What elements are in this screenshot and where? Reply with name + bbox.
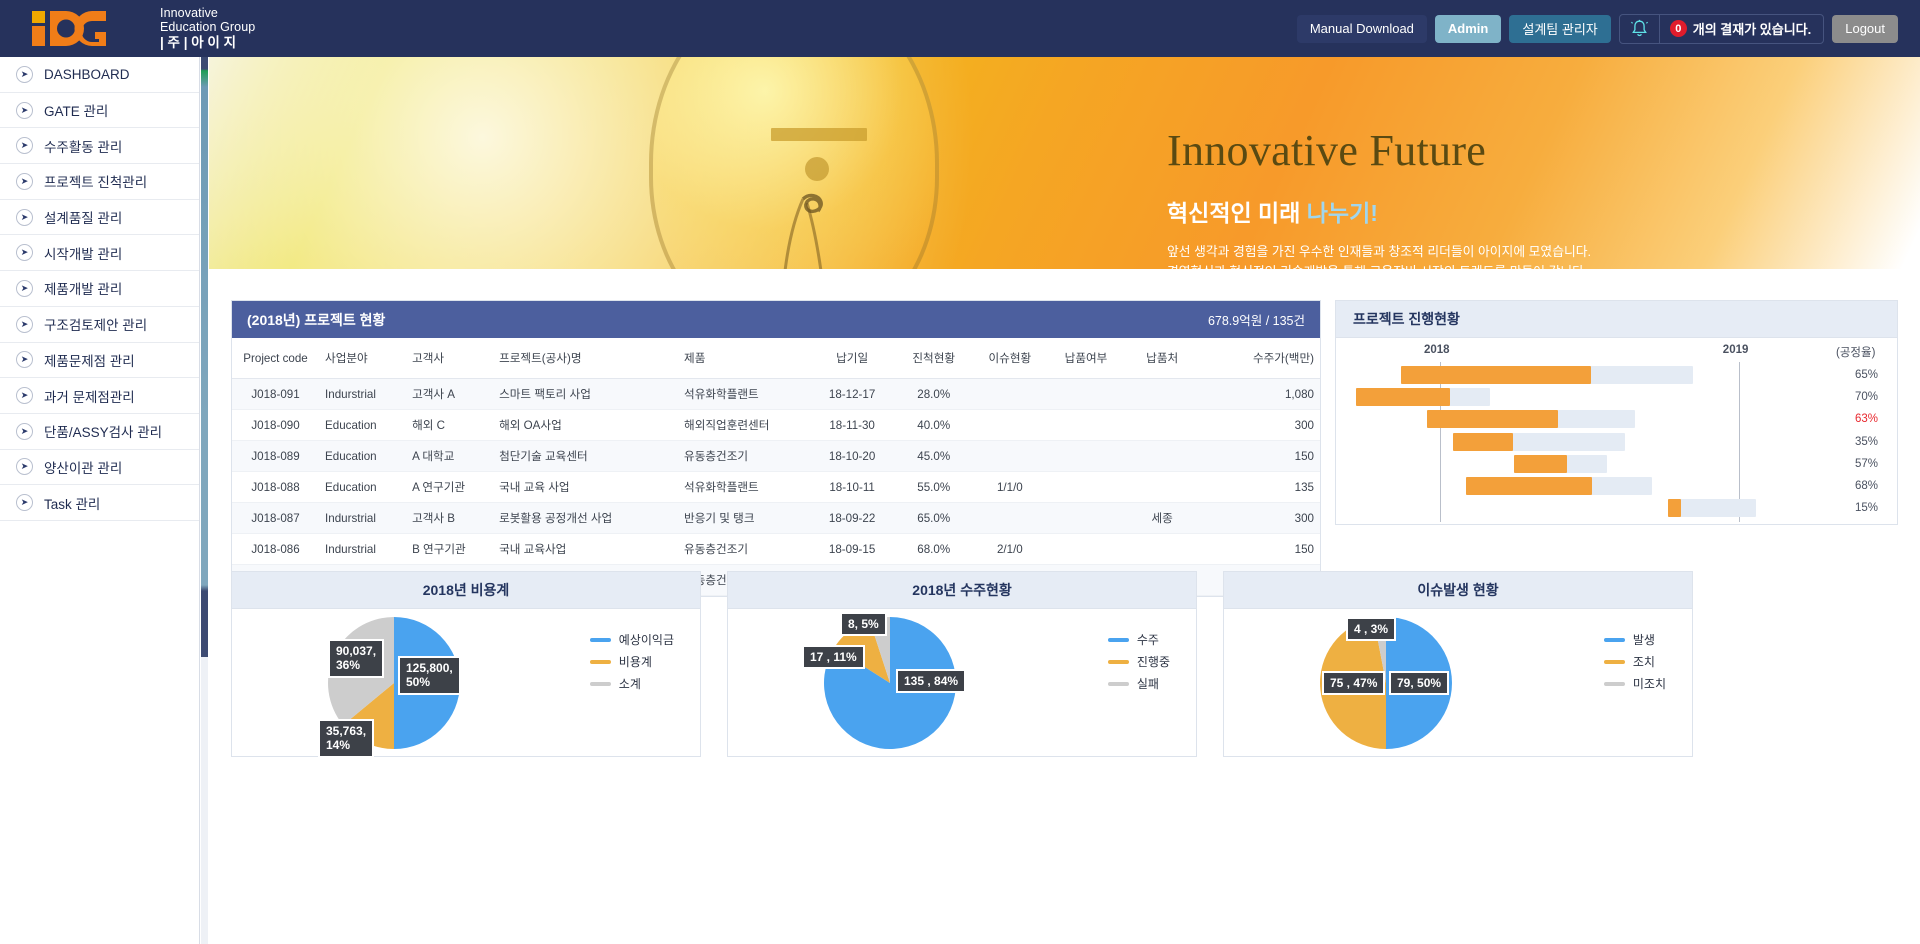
table-cell-dest: [1124, 441, 1200, 472]
table-cell-issue: 2/1/0: [972, 534, 1048, 565]
table-cell-price: 150: [1200, 441, 1320, 472]
table-cell-dest: [1124, 410, 1200, 441]
team-manager-button[interactable]: 설계팀 관리자: [1509, 15, 1610, 43]
table-column-header: 진척현황: [896, 338, 972, 379]
chevron-right-icon: ➤: [16, 494, 33, 511]
table-cell-field: Education: [319, 410, 406, 441]
table-cell-dest: [1124, 534, 1200, 565]
table-cell-name: 첨단기술 교육센터: [493, 441, 678, 472]
chevron-right-icon: ➤: [16, 66, 33, 83]
table-column-header: 고객사: [406, 338, 493, 379]
pie-legend: 수주진행중실패: [1108, 631, 1170, 697]
legend-color-swatch: [1108, 638, 1129, 642]
table-cell-client: A 연구기관: [406, 472, 493, 503]
pie-legend: 예상이익금비용계소계: [590, 631, 674, 697]
table-cell-field: Education: [319, 441, 406, 472]
legend-label: 예상이익금: [619, 631, 674, 648]
chevron-right-icon: ➤: [16, 351, 33, 368]
pie-data-label: 90,037, 36%: [328, 639, 384, 678]
legend-color-swatch: [1108, 682, 1129, 686]
pie-data-label: 4 , 3%: [1346, 617, 1396, 641]
table-cell-product: 해외직업훈련센터: [678, 410, 809, 441]
chevron-right-icon: ➤: [16, 280, 33, 297]
table-cell-name: 해외 OA사업: [493, 410, 678, 441]
table-column-header: 사업분야: [319, 338, 406, 379]
sidebar-item-label: 설계품질 관리: [44, 207, 122, 227]
orders-pie-panel: 2018년 수주현황 수주진행중실패135 , 84%17 , 11%8, 5%: [727, 571, 1197, 757]
sidebar-item-1[interactable]: ➤GATE 관리: [0, 93, 199, 129]
pie-data-label: 75 , 47%: [1322, 671, 1385, 695]
sidebar-item-5[interactable]: ➤시작개발 관리: [0, 235, 199, 271]
table-cell-price: 135: [1200, 472, 1320, 503]
gantt-bar-fill: [1514, 455, 1567, 473]
table-cell-issue: [972, 379, 1048, 410]
pie-data-label: 8, 5%: [840, 612, 887, 636]
gantt-chart: 20182019(공정율)65%70%63%35%57%68%15%: [1336, 338, 1897, 524]
main-content: (2018년) 프로젝트 현황 678.9억원 / 135건 Project c…: [209, 269, 1920, 944]
table-row[interactable]: J018-091Indurstrial고객사 A스마트 팩토리 사업석유화학플랜…: [232, 379, 1320, 410]
gantt-bar-fill: [1453, 433, 1513, 451]
issues-pie-chart: 발생조치미조치79, 50%75 , 47%4 , 3%: [1224, 609, 1692, 757]
logo-line-3: | 주 | 아 이 지: [160, 35, 255, 50]
lightbulb-filament-icon: [769, 179, 859, 269]
legend-label: 미조치: [1633, 675, 1666, 692]
banner-subtitle-main: 혁신적인 미래: [1167, 200, 1307, 226]
project-status-title: (2018년) 프로젝트 현황: [247, 310, 385, 330]
gantt-value-header: (공정율): [1836, 344, 1875, 360]
gantt-progress-label: 70%: [1836, 391, 1878, 403]
sidebar-scrollbar[interactable]: [201, 57, 208, 944]
orders-pie-title: 2018년 수주현황: [728, 572, 1196, 609]
admin-button[interactable]: Admin: [1435, 15, 1501, 43]
lightbulb-dot-icon: [805, 157, 829, 181]
table-row[interactable]: J018-090Education해외 C해외 OA사업해외직업훈련센터18-1…: [232, 410, 1320, 441]
table-row[interactable]: J018-086IndurstrialB 연구기관국내 교육사업유동층건조기18…: [232, 534, 1320, 565]
sidebar-item-label: 구조검토제안 관리: [44, 314, 147, 334]
table-cell-due: 18-10-20: [809, 441, 896, 472]
table-cell-client: A 대학교: [406, 441, 493, 472]
table-cell-due: 18-10-11: [809, 472, 896, 503]
legend-item: 예상이익금: [590, 631, 674, 648]
gantt-gridline-2018: [1440, 362, 1441, 522]
legend-label: 진행중: [1137, 653, 1170, 670]
gantt-progress-label: 65%: [1836, 369, 1878, 381]
legend-item: 조치: [1604, 653, 1666, 670]
sidebar-item-4[interactable]: ➤설계품질 관리: [0, 200, 199, 236]
legend-item: 소계: [590, 675, 674, 692]
pie-data-label: 35,763, 14%: [318, 719, 374, 758]
table-cell-code: J018-090: [232, 410, 319, 441]
table-cell-progress: 40.0%: [896, 410, 972, 441]
table-cell-code: J018-091: [232, 379, 319, 410]
table-cell-product: 유동층건조기: [678, 534, 809, 565]
table-cell-issue: [972, 441, 1048, 472]
gantt-gridline-2019: [1739, 362, 1740, 522]
sidebar-item-0[interactable]: ➤DASHBOARD: [0, 57, 199, 93]
chevron-right-icon: ➤: [16, 244, 33, 261]
table-cell-product: 유동층건조기: [678, 441, 809, 472]
table-column-header: 프로젝트(공사)명: [493, 338, 678, 379]
gantt-bar-fill: [1668, 499, 1681, 517]
table-cell-issue: [972, 410, 1048, 441]
manual-download-button[interactable]: Manual Download: [1297, 15, 1427, 43]
notification-count-badge: 0: [1670, 20, 1687, 37]
table-cell-field: Education: [319, 472, 406, 503]
idg-logo-icon: [30, 9, 150, 47]
gantt-bar-fill: [1427, 410, 1558, 428]
legend-label: 조치: [1633, 653, 1655, 670]
table-row[interactable]: J018-087Indurstrial고객사 B로봇활용 공정개선 사업반응기 …: [232, 503, 1320, 534]
header-actions: Manual Download Admin 설계팀 관리자 0 개의 결재가 있…: [1297, 14, 1898, 44]
logout-button[interactable]: Logout: [1832, 15, 1898, 43]
lightbulb-base-icon: [771, 128, 867, 141]
table-cell-dest: [1124, 379, 1200, 410]
legend-color-swatch: [1604, 682, 1625, 686]
gantt-bar-fill: [1466, 477, 1592, 495]
legend-color-swatch: [1604, 638, 1625, 642]
legend-item: 발생: [1604, 631, 1666, 648]
table-cell-code: J018-087: [232, 503, 319, 534]
banner-desc-line-1: 앞선 생각과 경험을 가진 우수한 인재들과 창조적 리더들이 아이지에 모였습…: [1167, 242, 1591, 262]
legend-item: 진행중: [1108, 653, 1170, 670]
pie-legend: 발생조치미조치: [1604, 631, 1666, 697]
table-cell-delivered: [1048, 410, 1124, 441]
pie-data-label: 125,800, 50%: [398, 656, 461, 695]
chevron-right-icon: ➤: [16, 209, 33, 226]
table-body: J018-091Indurstrial고객사 A스마트 팩토리 사업석유화학플랜…: [232, 379, 1320, 596]
legend-color-swatch: [590, 638, 611, 642]
chevron-right-icon: ➤: [16, 102, 33, 119]
sidebar-item-3[interactable]: ➤프로젝트 진척관리: [0, 164, 199, 200]
table-column-header: Project code: [232, 338, 319, 379]
table-header-row: Project code사업분야고객사프로젝트(공사)명제품납기일진척현황이슈현…: [232, 338, 1320, 379]
table-column-header: 제품: [678, 338, 809, 379]
table-cell-code: J018-089: [232, 441, 319, 472]
legend-label: 수주: [1137, 631, 1159, 648]
table-column-header: 수주가(백만): [1200, 338, 1320, 379]
table-cell-progress: 45.0%: [896, 441, 972, 472]
banner-subtitle-highlight: 나누기!: [1307, 200, 1378, 226]
table-cell-name: 로봇활용 공정개선 사업: [493, 503, 678, 534]
table-cell-name: 스마트 팩토리 사업: [493, 379, 678, 410]
pie-data-label: 135 , 84%: [896, 669, 966, 693]
table-cell-due: 18-12-17: [809, 379, 896, 410]
gantt-progress-label: 68%: [1836, 480, 1878, 492]
chevron-right-icon: ➤: [16, 423, 33, 440]
table-cell-name: 국내 교육 사업: [493, 472, 678, 503]
legend-label: 비용계: [619, 653, 652, 670]
table-column-header: 이슈현황: [972, 338, 1048, 379]
table-cell-field: Indurstrial: [319, 534, 406, 565]
sidebar-item-label: 과거 문제점관리: [44, 386, 135, 406]
sidebar-item-label: 수주활동 관리: [44, 136, 122, 156]
table-cell-dest: 세종: [1124, 503, 1200, 534]
table-cell-issue: 1/1/0: [972, 472, 1048, 503]
project-status-panel: (2018년) 프로젝트 현황 678.9억원 / 135건 Project c…: [231, 300, 1321, 597]
table-cell-price: 300: [1200, 503, 1320, 534]
sidebar-item-12[interactable]: ➤Task 관리: [0, 485, 199, 521]
table-cell-name: 국내 교육사업: [493, 534, 678, 565]
issues-pie-panel: 이슈발생 현황 발생조치미조치79, 50%75 , 47%4 , 3%: [1223, 571, 1693, 757]
table-cell-delivered: [1048, 379, 1124, 410]
pie-data-label: 17 , 11%: [802, 645, 865, 669]
notification-message: 개의 결재가 있습니다.: [1693, 19, 1811, 38]
table-cell-price: 1,080: [1200, 379, 1320, 410]
table-row[interactable]: J018-088EducationA 연구기관국내 교육 사업석유화학플랜트18…: [232, 472, 1320, 503]
legend-label: 실패: [1137, 675, 1159, 692]
gantt-title: 프로젝트 진행현황: [1336, 301, 1897, 338]
sidebar-item-9[interactable]: ➤과거 문제점관리: [0, 378, 199, 414]
table-cell-progress: 65.0%: [896, 503, 972, 534]
legend-item: 실패: [1108, 675, 1170, 692]
table-cell-product: 반응기 및 탱크: [678, 503, 809, 534]
table-cell-client: B 연구기관: [406, 534, 493, 565]
sidebar-item-label: 프로젝트 진척관리: [44, 171, 147, 191]
logo-line-2: Education Group: [160, 20, 255, 34]
gantt-progress-label: 35%: [1836, 436, 1878, 448]
gantt-bar-track: [1668, 499, 1756, 517]
sidebar-item-2[interactable]: ➤수주활동 관리: [0, 128, 199, 164]
sidebar-item-8[interactable]: ➤제품문제점 관리: [0, 343, 199, 379]
table-cell-field: Indurstrial: [319, 379, 406, 410]
sidebar-item-10[interactable]: ➤단품/ASSY검사 관리: [0, 414, 199, 450]
table-cell-due: 18-11-30: [809, 410, 896, 441]
cost-pie-panel: 2018년 비용계 예상이익금비용계소계125,800, 50%35,763, …: [231, 571, 701, 757]
legend-color-swatch: [590, 660, 611, 664]
table-column-header: 납품여부: [1048, 338, 1124, 379]
sidebar-nav: ➤DASHBOARD➤GATE 관리➤수주활동 관리➤프로젝트 진척관리➤설계품…: [0, 57, 200, 944]
gantt-bar-fill: [1401, 366, 1591, 384]
table-cell-progress: 55.0%: [896, 472, 972, 503]
legend-label: 소계: [619, 675, 641, 692]
sidebar-item-label: 양산이관 관리: [44, 457, 122, 477]
chevron-right-icon: ➤: [16, 137, 33, 154]
gantt-progress-label: 57%: [1836, 458, 1878, 470]
sidebar-item-label: 단품/ASSY검사 관리: [44, 421, 162, 441]
banner-title: Innovative Future: [1167, 125, 1591, 176]
notification-text-wrap: 0 개의 결재가 있습니다.: [1660, 19, 1823, 38]
table-cell-product: 석유화학플랜트: [678, 379, 809, 410]
table-cell-client: 해외 C: [406, 410, 493, 441]
legend-color-swatch: [590, 682, 611, 686]
table-cell-due: 18-09-22: [809, 503, 896, 534]
sidebar-item-6[interactable]: ➤제품개발 관리: [0, 271, 199, 307]
legend-label: 발생: [1633, 631, 1655, 648]
table-cell-delivered: [1048, 441, 1124, 472]
sidebar-item-label: Task 관리: [44, 493, 100, 513]
project-status-summary: 678.9억원 / 135건: [1208, 310, 1305, 329]
table-cell-field: Indurstrial: [319, 503, 406, 534]
sidebar-item-11[interactable]: ➤양산이관 관리: [0, 450, 199, 486]
banner-subtitle: 혁신적인 미래 나누기!: [1167, 194, 1591, 228]
logo-line-1: Innovative: [160, 6, 255, 20]
orders-pie-chart: 수주진행중실패135 , 84%17 , 11%8, 5%: [728, 609, 1196, 757]
table-cell-product: 석유화학플랜트: [678, 472, 809, 503]
legend-item: 미조치: [1604, 675, 1666, 692]
legend-item: 비용계: [590, 653, 674, 670]
cost-pie-title: 2018년 비용계: [232, 572, 700, 609]
banner-description: 앞선 생각과 경험을 가진 우수한 인재들과 창조적 리더들이 아이지에 모였습…: [1167, 242, 1591, 269]
notification-area[interactable]: 0 개의 결재가 있습니다.: [1619, 14, 1824, 44]
bell-icon[interactable]: [1620, 15, 1660, 43]
pie-data-label: 79, 50%: [1389, 671, 1449, 695]
table-cell-code: J018-086: [232, 534, 319, 565]
issues-pie-title: 이슈발생 현황: [1224, 572, 1692, 609]
banner-desc-line-2: 경영혁신과 혁신적인 기술개발을 통해 교육장비 시장의 트렌드를 만들어 갑니…: [1167, 262, 1591, 269]
legend-item: 수주: [1108, 631, 1170, 648]
table-cell-price: 150: [1200, 534, 1320, 565]
table-cell-delivered: [1048, 534, 1124, 565]
table-cell-delivered: [1048, 472, 1124, 503]
table-cell-progress: 28.0%: [896, 379, 972, 410]
chevron-right-icon: ➤: [16, 458, 33, 475]
sidebar-item-label: DASHBOARD: [44, 67, 130, 82]
top-header-bar: Innovative Education Group | 주 | 아 이 지 M…: [0, 0, 1920, 57]
app-logo[interactable]: Innovative Education Group | 주 | 아 이 지: [30, 6, 255, 50]
gantt-axis-2019: 2019: [1723, 344, 1749, 356]
table-row[interactable]: J018-089EducationA 대학교첨단기술 교육센터유동층건조기18-…: [232, 441, 1320, 472]
legend-color-swatch: [1108, 660, 1129, 664]
sidebar-scrollbar-thumb[interactable]: [201, 57, 208, 657]
table-column-header: 납품처: [1124, 338, 1200, 379]
table-cell-dest: [1124, 472, 1200, 503]
table-cell-price: 300: [1200, 410, 1320, 441]
gantt-progress-label: 15%: [1836, 502, 1878, 514]
chevron-right-icon: ➤: [16, 173, 33, 190]
sidebar-item-label: GATE 관리: [44, 100, 108, 120]
table-cell-delivered: [1048, 503, 1124, 534]
project-status-header: (2018년) 프로젝트 현황 678.9억원 / 135건: [232, 301, 1320, 338]
hero-banner: Innovative Future 혁신적인 미래 나누기! 앞선 생각과 경험…: [209, 57, 1920, 269]
project-progress-panel: 프로젝트 진행현황 20182019(공정율)65%70%63%35%57%68…: [1335, 300, 1898, 525]
table-cell-client: 고객사 B: [406, 503, 493, 534]
table-column-header: 납기일: [809, 338, 896, 379]
legend-color-swatch: [1604, 660, 1625, 664]
cost-pie-chart: 예상이익금비용계소계125,800, 50%35,763, 14%90,037,…: [232, 609, 700, 757]
table-cell-issue: [972, 503, 1048, 534]
gantt-axis-2018: 2018: [1424, 344, 1450, 356]
banner-text-block: Innovative Future 혁신적인 미래 나누기! 앞선 생각과 경험…: [1167, 125, 1591, 269]
table-cell-due: 18-09-15: [809, 534, 896, 565]
chevron-right-icon: ➤: [16, 316, 33, 333]
sidebar-item-7[interactable]: ➤구조검토제안 관리: [0, 307, 199, 343]
project-table: Project code사업분야고객사프로젝트(공사)명제품납기일진척현황이슈현…: [232, 338, 1320, 596]
sidebar-item-label: 제품문제점 관리: [44, 350, 135, 370]
chevron-right-icon: ➤: [16, 387, 33, 404]
gantt-bar-fill: [1356, 388, 1450, 406]
table-cell-client: 고객사 A: [406, 379, 493, 410]
table-cell-code: J018-088: [232, 472, 319, 503]
table-cell-progress: 68.0%: [896, 534, 972, 565]
sidebar-item-label: 시작개발 관리: [44, 243, 122, 263]
sidebar-item-label: 제품개발 관리: [44, 278, 122, 298]
gantt-progress-label: 63%: [1836, 413, 1878, 425]
